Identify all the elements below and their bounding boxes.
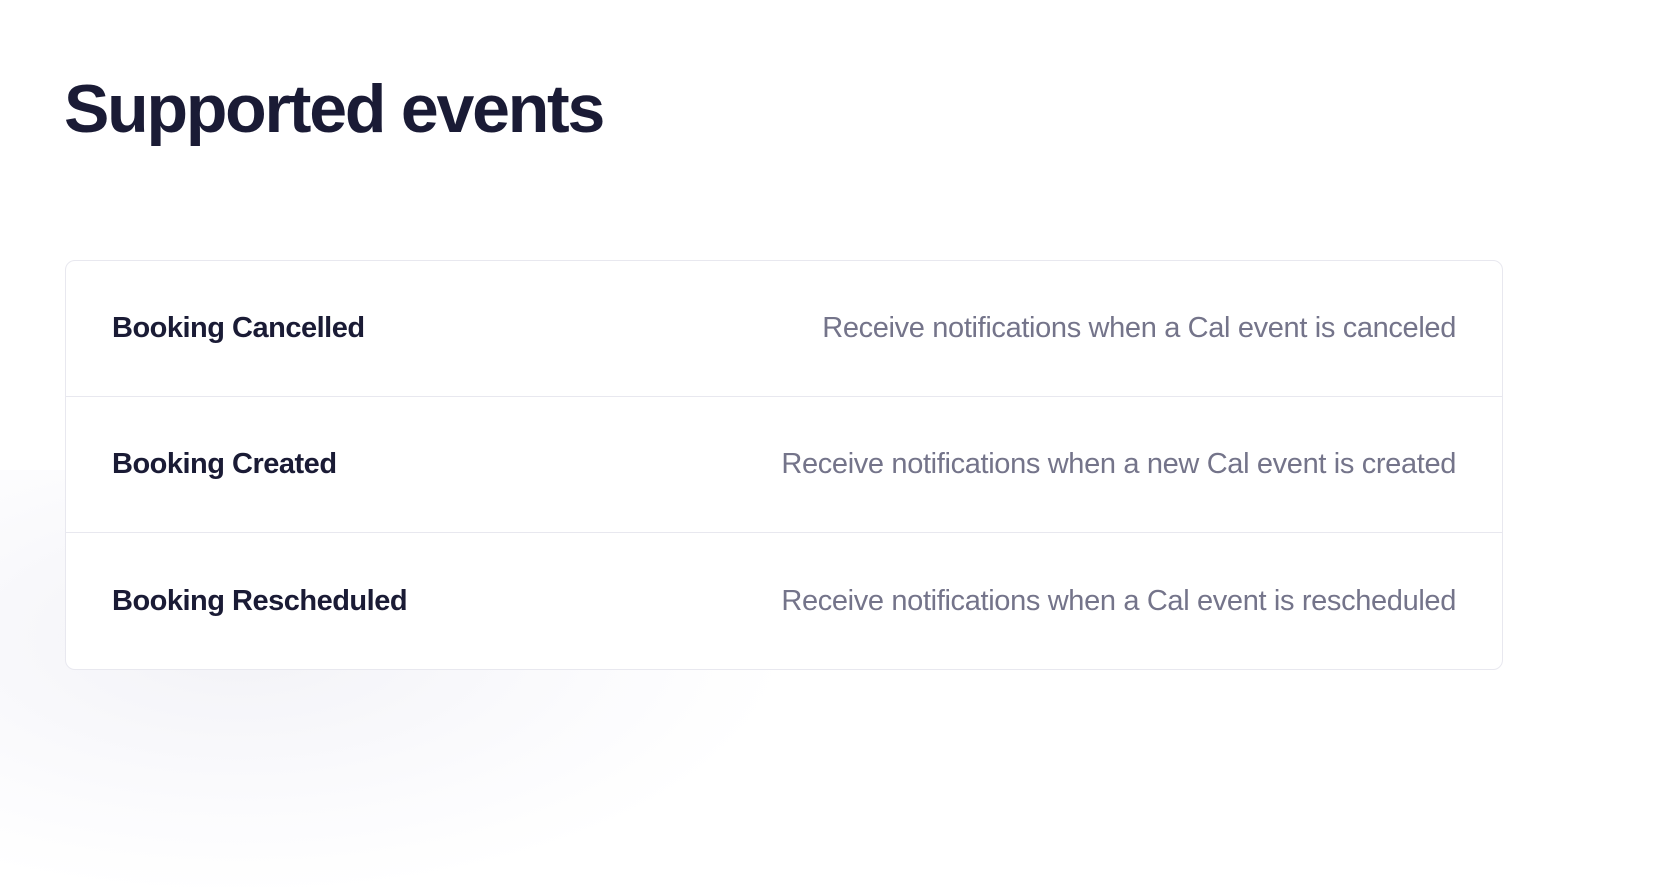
table-row: Booking Created Receive notifications wh… (66, 397, 1502, 533)
event-name: Booking Created (112, 448, 337, 481)
table-row: Booking Rescheduled Receive notification… (66, 533, 1502, 669)
supported-events-card: Booking Cancelled Receive notifications … (65, 260, 1503, 670)
table-row: Booking Cancelled Receive notifications … (66, 261, 1502, 397)
event-description: Receive notifications when a Cal event i… (822, 312, 1456, 345)
page-title: Supported events (64, 75, 603, 143)
event-name: Booking Rescheduled (112, 585, 407, 618)
event-description: Receive notifications when a Cal event i… (781, 585, 1456, 618)
event-name: Booking Cancelled (112, 312, 365, 345)
event-description: Receive notifications when a new Cal eve… (781, 448, 1456, 481)
